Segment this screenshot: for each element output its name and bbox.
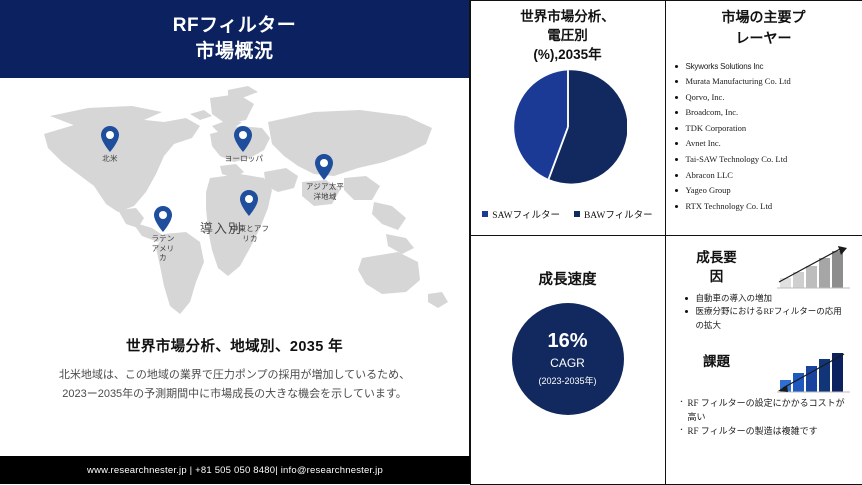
growth-bar-chart-icon <box>774 244 854 290</box>
caption-body: 北米地域は、この地域の業界で圧力ポンプの採用が増加しているため、2023ー203… <box>55 366 415 404</box>
panel-key-players: 市場の主要プ レーヤー Skyworks Solutions Inc Murat… <box>665 0 862 236</box>
growth-drivers-title-line1: 成長要 <box>674 248 760 267</box>
list-item: RF フィルターの設定にかかるコストが高い <box>688 396 850 424</box>
growth-drivers-title: 成長要 因 <box>674 244 760 286</box>
challenges-title: 課題 <box>674 348 760 371</box>
pie-legend: SAWフィルター BAWフィルター <box>471 207 665 221</box>
key-players-title-line1: 市場の主要プ <box>666 7 862 28</box>
list-item: RF フィルターの製造は複雑です <box>688 424 850 438</box>
legend-label-baw: BAWフィルター <box>584 207 653 221</box>
cagr-value: 16% <box>547 329 587 353</box>
panel-growth-rate: 成長速度 16% CAGR (2023-2035年) <box>470 235 666 485</box>
page-title-line2: 市場概況 <box>195 39 273 65</box>
list-item: RTX Technology Co. Ltd <box>686 199 856 215</box>
world-map: 北米 ヨーロッパ アジア太平 洋地域 ラテン アメリ カ 中東とアフ リカ 導入… <box>0 78 469 333</box>
infographic-sheet: RFフィルター 市場概況 <box>0 0 862 484</box>
pie-title-line2: 電圧別 <box>471 26 665 45</box>
list-item: Skyworks Solutions Inc <box>686 59 856 75</box>
key-players-title-line2: レーヤー <box>666 28 862 49</box>
map-label-asia-pacific: アジア太平 洋地域 <box>297 182 353 201</box>
pie-chart <box>471 68 665 186</box>
list-item: Yageo Group <box>686 183 856 199</box>
pie-chart-title: 世界市場分析、 電圧別 (%),2035年 <box>471 1 665 64</box>
footer-contact: www.researchnester.jp | +81 505 050 8480… <box>87 465 383 476</box>
cagr-label: CAGR <box>550 353 585 373</box>
key-players-list: Skyworks Solutions Inc Murata Manufactur… <box>666 59 862 215</box>
map-label-north-america: 北米 <box>90 154 130 164</box>
map-pin-latin-america[interactable] <box>154 206 172 232</box>
panel-drivers-challenges: 成長要 因 自動車の導入の増加 <box>665 235 862 485</box>
list-item: TDK Corporation <box>686 121 856 137</box>
list-item: Qorvo, Inc. <box>686 90 856 106</box>
caption-heading: 世界市場分析、地域別、2035 年 <box>0 335 469 356</box>
cagr-circle: 16% CAGR (2023-2035年) <box>512 303 624 415</box>
list-item: 自動車の導入の増加 <box>696 292 850 306</box>
key-players-title: 市場の主要プ レーヤー <box>666 1 862 49</box>
challenges-header: 課題 <box>674 348 854 394</box>
map-pin-europe[interactable] <box>234 126 252 152</box>
pie-chart-svg <box>509 68 627 186</box>
list-item: Tai-SAW Technology Co. Ltd <box>686 152 856 168</box>
list-item: Abracon LLC <box>686 168 856 184</box>
growth-drivers-section: 成長要 因 自動車の導入の増加 <box>666 236 862 333</box>
legend-swatch-saw <box>482 211 488 217</box>
panel-voltage-pie: 世界市場分析、 電圧別 (%),2035年 SAWフィルター <box>470 0 666 236</box>
page-title-line1: RFフィルター <box>173 13 296 39</box>
list-item: Murata Manufacturing Co. Ltd <box>686 74 856 90</box>
legend-swatch-baw <box>574 211 580 217</box>
cagr-title: 成長速度 <box>471 236 665 289</box>
growth-drivers-list: 自動車の導入の増加 医療分野におけるRFフィルターの応用の拡大 <box>674 292 854 333</box>
challenges-bar-chart-icon <box>774 348 854 394</box>
pie-title-line1: 世界市場分析、 <box>471 7 665 26</box>
challenges-list: RF フィルターの設定にかかるコストが高い RF フィルターの製造は複雑です <box>674 396 854 438</box>
legend-item-baw[interactable]: BAWフィルター <box>574 207 653 221</box>
map-overlay-label: 導入別 <box>200 218 242 237</box>
footer-bar: www.researchnester.jp | +81 505 050 8480… <box>0 456 470 484</box>
legend-item-saw[interactable]: SAWフィルター <box>482 207 560 221</box>
map-pin-north-america[interactable] <box>101 126 119 152</box>
legend-label-saw: SAWフィルター <box>492 207 560 221</box>
challenges-section: 課題 RF フィルターの設定にかかるコストが高い RF フィルターの製造 <box>666 332 862 438</box>
list-item: Avnet Inc. <box>686 136 856 152</box>
pie-title-line3: (%),2035年 <box>471 45 665 64</box>
map-pin-asia-pacific[interactable] <box>315 154 333 180</box>
map-label-latin-america: ラテン アメリ カ <box>144 234 182 263</box>
map-label-europe: ヨーロッパ <box>216 154 272 164</box>
map-pin-middle-east-africa[interactable] <box>240 190 258 216</box>
world-map-shapes <box>14 82 456 322</box>
cagr-range: (2023-2035年) <box>538 373 596 389</box>
list-item: Broadcom, Inc. <box>686 105 856 121</box>
title-banner: RFフィルター 市場概況 <box>0 0 469 78</box>
right-panel-grid: 世界市場分析、 電圧別 (%),2035年 SAWフィルター <box>470 0 862 484</box>
growth-drivers-title-line2: 因 <box>674 267 760 286</box>
list-item: 医療分野におけるRFフィルターの応用の拡大 <box>696 305 850 332</box>
left-panel: RFフィルター 市場概況 <box>0 0 470 484</box>
growth-drivers-header: 成長要 因 <box>674 244 854 290</box>
